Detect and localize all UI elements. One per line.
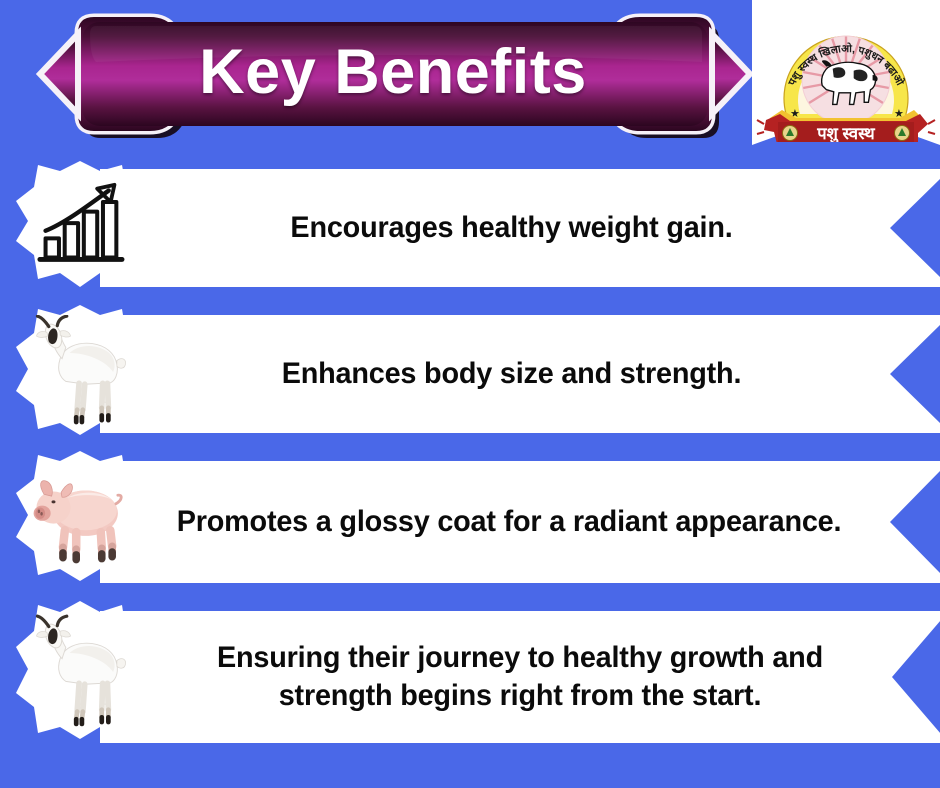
benefit-row-4[interactable]: Ensuring their journey to healthy growth… <box>0 597 940 757</box>
benefit-text-4: Ensuring their journey to healthy growth… <box>163 597 877 757</box>
benefit-badge-4 <box>14 601 146 741</box>
pashu-swasth-logo: पशु स्वस्थ खिलाओ, पशुधन बढाओ ★ ★ पशु स्व… <box>756 2 936 142</box>
page-title: Key Benefits <box>34 8 752 140</box>
benefit-text-4-content: Ensuring their journey to healthy growth… <box>163 639 877 716</box>
goat-photo <box>14 305 146 437</box>
benefit-badge-1 <box>14 161 146 289</box>
benefit-text-3-content: Promotes a glossy coat for a radiant app… <box>177 503 842 541</box>
benefit-text-1: Encourages healthy weight gain. <box>169 155 853 301</box>
poster-canvas: पशु स्वस्थ खिलाओ, पशुधन बढाओ ★ ★ पशु स्व… <box>0 0 940 788</box>
growth-chart-icon <box>14 161 146 289</box>
benefit-badge-2 <box>14 305 146 437</box>
pig-photo <box>14 451 146 583</box>
goat-photo <box>14 601 146 741</box>
logo-banner-text: पशु स्वस्थ <box>816 125 876 142</box>
benefit-row-1[interactable]: Encourages healthy weight gain. <box>0 155 940 301</box>
benefit-badge-3 <box>14 451 146 583</box>
benefit-row-2[interactable]: Enhances body size and strength. <box>0 301 940 447</box>
title-banner: Key Benefits <box>34 8 752 140</box>
benefit-row-3[interactable]: Promotes a glossy coat for a radiant app… <box>0 447 940 597</box>
benefit-text-3: Promotes a glossy coat for a radiant app… <box>164 447 853 597</box>
benefits-list: Encourages healthy weight gain. <box>0 155 940 757</box>
benefit-text-2: Enhances body size and strength. <box>169 301 853 447</box>
